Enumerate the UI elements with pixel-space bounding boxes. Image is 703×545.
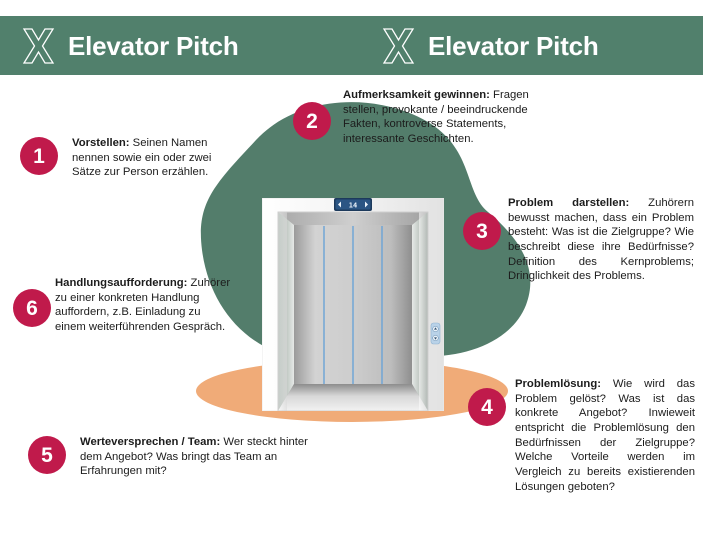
x-logo-icon [382, 28, 415, 64]
step-number-badge: 2 [293, 102, 331, 140]
step-description: Problem darstellen: Zuhörern bewusst mac… [508, 196, 694, 284]
step-description: Vorstellen: Seinen Namen nennen sowie ei… [72, 136, 236, 180]
header-brand-right: Elevator Pitch [382, 28, 599, 64]
step-description: Handlungsaufforderung: Zuhörer zu einer … [55, 276, 231, 335]
infographic-canvas: 14 Elevator Pitch Elevator Pitch 1 [0, 0, 703, 545]
header-title-left: Elevator Pitch [68, 33, 239, 59]
step-title: Handlungsaufforderung: [55, 277, 187, 289]
step-number-badge: 5 [28, 436, 66, 474]
header-bar: Elevator Pitch Elevator Pitch [0, 16, 703, 75]
step-number-badge: 3 [463, 212, 501, 250]
step-description: Problemlösung: Wie wird das Problem gelö… [515, 377, 695, 494]
step-body: Wie wird das Problem gelöst? Was ist das… [515, 378, 695, 493]
step-description: Aufmerksamkeit gewinnen: Fragen stellen,… [343, 88, 563, 147]
step-number-badge: 4 [468, 388, 506, 426]
step-title: Aufmerksamkeit gewinnen: [343, 89, 490, 101]
step-body: Zuhörern bewusst machen, dass ein Proble… [508, 197, 694, 282]
header-brand-left: Elevator Pitch [22, 28, 239, 64]
floor-indicator: 14 [334, 198, 372, 211]
step-title: Vorstellen: [72, 137, 130, 149]
step-number-badge: 1 [20, 137, 58, 175]
x-logo-icon [22, 28, 55, 64]
step-title: Werteversprechen / Team: [80, 436, 220, 448]
step-number-badge: 6 [13, 289, 51, 327]
header-title-right: Elevator Pitch [428, 33, 599, 59]
step-title: Problemlösung: [515, 378, 601, 390]
elevator-illustration: 14 [262, 198, 444, 411]
call-button-panel [431, 323, 440, 344]
step-description: Werteversprechen / Team: Wer steckt hint… [80, 435, 322, 479]
svg-text:14: 14 [349, 202, 357, 210]
step-title: Problem darstellen: [508, 197, 629, 209]
